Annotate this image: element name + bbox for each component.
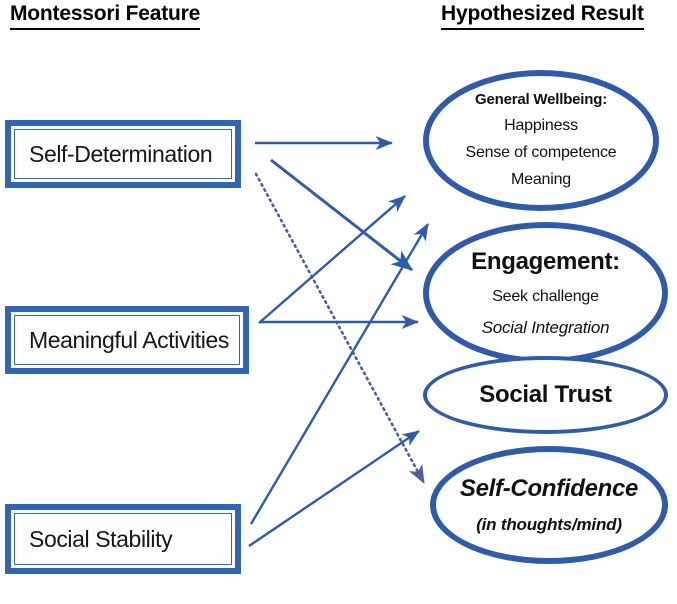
feature-label: Social Stability xyxy=(15,526,172,553)
result-line-happiness: Happiness xyxy=(504,116,578,136)
column-header-montessori-feature: Montessori Feature xyxy=(10,2,200,30)
result-line-subtitle: (in thoughts/mind) xyxy=(476,514,622,535)
result-line-social-integration: Social Integration xyxy=(482,317,610,338)
connector-self-determination-to-engagement xyxy=(271,160,412,270)
result-line-seek-challenge: Seek challenge xyxy=(492,287,599,307)
result-ellipse-self-confidence[interactable]: Self-Confidence (in thoughts/mind) xyxy=(430,446,668,564)
feature-box-self-determination[interactable]: Self-Determination xyxy=(5,120,241,188)
feature-box-inner: Meaningful Activities xyxy=(14,315,240,365)
result-ellipse-social-trust[interactable]: Social Trust xyxy=(423,356,668,434)
diagram-canvas: Montessori Feature Hypothesized Result xyxy=(0,0,677,604)
result-line-meaning: Meaning xyxy=(511,170,571,190)
result-line-title: Engagement: xyxy=(471,247,620,277)
result-ellipse-engagement[interactable]: Engagement: Seek challenge Social Integr… xyxy=(423,222,668,364)
feature-box-inner: Social Stability xyxy=(14,513,232,565)
connector-meaningful-activities-to-general-wellbeing xyxy=(259,196,405,323)
result-line-sense-of-competence: Sense of competence xyxy=(466,143,617,163)
feature-box-meaningful-activities[interactable]: Meaningful Activities xyxy=(5,306,249,374)
result-line-title: Self-Confidence xyxy=(460,474,638,504)
result-line-title: General Wellbeing: xyxy=(475,91,607,110)
result-ellipse-general-wellbeing[interactable]: General Wellbeing: Happiness Sense of co… xyxy=(423,70,659,211)
column-header-hypothesized-result: Hypothesized Result xyxy=(441,2,644,30)
connector-self-determination-to-self-confidence xyxy=(256,174,424,483)
result-line-title: Social Trust xyxy=(479,380,611,410)
feature-label: Meaningful Activities xyxy=(15,327,229,354)
feature-box-social-stability[interactable]: Social Stability xyxy=(5,504,241,574)
connector-social-stability-to-engagement xyxy=(251,224,428,524)
feature-box-inner: Self-Determination xyxy=(14,129,232,179)
feature-label: Self-Determination xyxy=(15,141,212,168)
connector-social-stability-to-social-trust xyxy=(249,431,419,546)
